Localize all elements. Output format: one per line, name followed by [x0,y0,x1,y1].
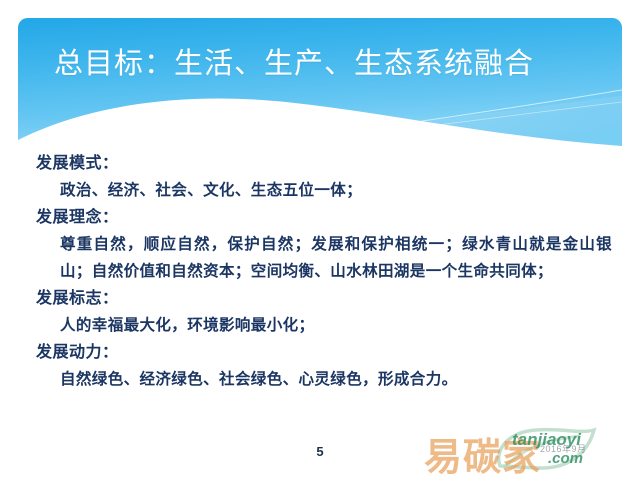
header-wave-graphic [18,18,622,148]
block-heading: 发展动力： [0,339,640,366]
block-paragraph: 人的幸福最大化，环境影响最小化； [0,312,640,339]
slide-title: 总目标：生活、生产、生态系统融合 [54,46,594,82]
block-heading: 发展标志： [0,285,640,312]
block-heading: 发展模式： [0,150,640,177]
content-block-1: 发展模式： 政治、经济、社会、文化、生态五位一体； [0,150,640,204]
slide-body: 发展模式： 政治、经济、社会、文化、生态五位一体； 发展理念： 尊重自然，顺应自… [0,150,640,440]
content-block-4: 发展动力： 自然绿色、经济绿色、社会绿色、心灵绿色，形成合力。 [0,339,640,393]
block-paragraph: 政治、经济、社会、文化、生态五位一体； [0,177,640,204]
content-block-3: 发展标志： 人的幸福最大化，环境影响最小化； [0,285,640,339]
presentation-slide: 总目标：生活、生产、生态系统融合 发展模式： 政治、经济、社会、文化、生态五位一… [0,0,640,480]
block-paragraph: 自然绿色、经济绿色、社会绿色、心灵绿色，形成合力。 [0,366,640,393]
block-heading: 发展理念： [0,204,640,231]
content-block-2: 发展理念： 尊重自然，顺应自然，保护自然；发展和保护相统一；绿水青山就是金山银山… [0,204,640,285]
slide-header-banner: 总目标：生活、生产、生态系统融合 [18,18,622,148]
block-paragraph: 尊重自然，顺应自然，保护自然；发展和保护相统一；绿水青山就是金山银山；自然价值和… [0,231,640,285]
page-number: 5 [0,444,640,459]
